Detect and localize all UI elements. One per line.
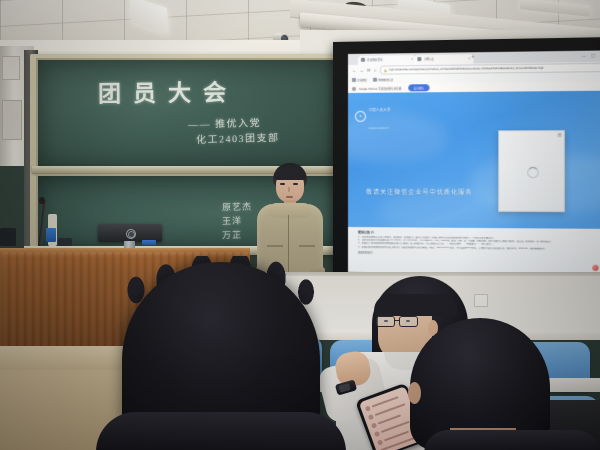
presenter-pocket [299, 245, 315, 247]
dialog-close-icon[interactable]: ✕ [558, 133, 562, 137]
bookmark-item[interactable]: 企业微信 [352, 78, 367, 82]
new-tab-button[interactable]: + [471, 55, 474, 60]
university-seal-icon: ★ [355, 110, 366, 121]
eyeglasses-icon [376, 316, 422, 327]
bookmark-favicon-icon [373, 78, 377, 82]
desk-device [58, 238, 72, 246]
wall-outlet-icon [474, 294, 488, 307]
loading-spinner-icon [527, 166, 538, 177]
tab-close-icon[interactable]: ✕ [411, 57, 414, 61]
classroom-photo-scene: 团员大会 —— 推优入党 化工2403团支部 原艺杰 王洋 万芷 企业微信登录 … [0, 0, 600, 450]
audience-back-ear [408, 382, 421, 404]
address-bar-url: login.chinamobile.com/login/index.jsp?re… [389, 67, 544, 72]
browser-tab-2[interactable]: 上网认证 ✕ [414, 54, 473, 64]
browser-tab-1-label: 企业微信登录 [367, 58, 383, 62]
audience-glasses-fringe [374, 294, 458, 316]
brand-name: 中国人民大学 [368, 108, 390, 112]
blackboard-name-3: 万芷 [222, 228, 242, 242]
blackboard-subtitle-1: —— 推优入党 [188, 114, 261, 131]
notice-panel: 使用公告 ⊙ 1、请登录校园网后点击上网账号 "自助服务" 查询账号，重置平台密… [348, 227, 600, 275]
forward-icon[interactable]: → [359, 68, 364, 73]
tab-favicon-icon [417, 57, 421, 61]
lock-icon: 🔒 [384, 68, 388, 72]
audience-back-shoulder [424, 430, 600, 450]
presenter-pocket [267, 245, 283, 247]
page-hero: ★ 中国人民大学 RENMIN UNIVERSITY 敬请关注微信企业号中优质化… [348, 91, 600, 229]
presenter-mouth [286, 196, 293, 198]
maximize-icon[interactable]: ▢ [591, 53, 595, 58]
bookmark-label: 企业微信 [357, 78, 367, 82]
bookmark-label: 中国移动认证 [378, 78, 393, 82]
bookmark-item[interactable]: 中国移动认证 [373, 78, 393, 82]
presenter-eye [293, 183, 298, 185]
login-dialog-card[interactable]: ✕ [498, 130, 565, 212]
presenter-fringe [274, 169, 306, 180]
presenter-eye [280, 183, 285, 185]
minimize-icon[interactable]: — [582, 53, 586, 58]
help-badge-icon[interactable] [592, 265, 598, 271]
blackboard-subtitle-2: 化工2403团支部 [196, 129, 280, 146]
microphone-icon [39, 197, 45, 204]
wall-plate [2, 56, 20, 80]
blackboard-name-1: 原艺杰 [222, 199, 252, 213]
tab-favicon-icon [361, 58, 365, 62]
desk-equipment [0, 228, 16, 246]
browser-tab-1[interactable]: 企业微信登录 ✕ [358, 55, 416, 65]
presenter-nose [288, 187, 290, 192]
projector-screen[interactable]: 企业微信登录 ✕ 上网认证 ✕ + — ▢ ✕ ← → ⟳ ⌂ 🔒 logi [348, 50, 600, 283]
tab-close-icon[interactable]: ✕ [468, 56, 471, 60]
bookmark-favicon-icon [352, 78, 355, 82]
brand-subtitle: RENMIN UNIVERSITY [368, 128, 389, 130]
wall-panel [2, 100, 22, 140]
desk-blue-item [46, 228, 56, 242]
audience-front-shoulder [96, 412, 346, 450]
dell-logo-icon [126, 229, 136, 239]
hero-message: 敬请关注微信企业号中优质化服务 [366, 187, 473, 196]
info-icon [352, 86, 356, 90]
infobar-text: Google Chrome 不是您的默认浏览器 [359, 86, 402, 90]
reload-icon[interactable]: ⟳ [367, 67, 371, 73]
desktop-monitor [98, 224, 162, 250]
site-brand: ★ 中国人民大学 RENMIN UNIVERSITY [355, 98, 391, 134]
blackboard-name-2: 王洋 [222, 214, 242, 228]
window-controls[interactable]: — ▢ ✕ [582, 53, 600, 58]
presenter-hood [269, 203, 311, 218]
set-default-button[interactable]: 设为默认 [409, 85, 430, 92]
browser-tab-2-label: 上网认证 [423, 57, 434, 61]
blackboard-title: 团员大会 [98, 73, 238, 108]
desk-blue-item [142, 240, 156, 245]
back-icon[interactable]: ← [352, 68, 356, 73]
home-icon[interactable]: ⌂ [374, 68, 377, 73]
